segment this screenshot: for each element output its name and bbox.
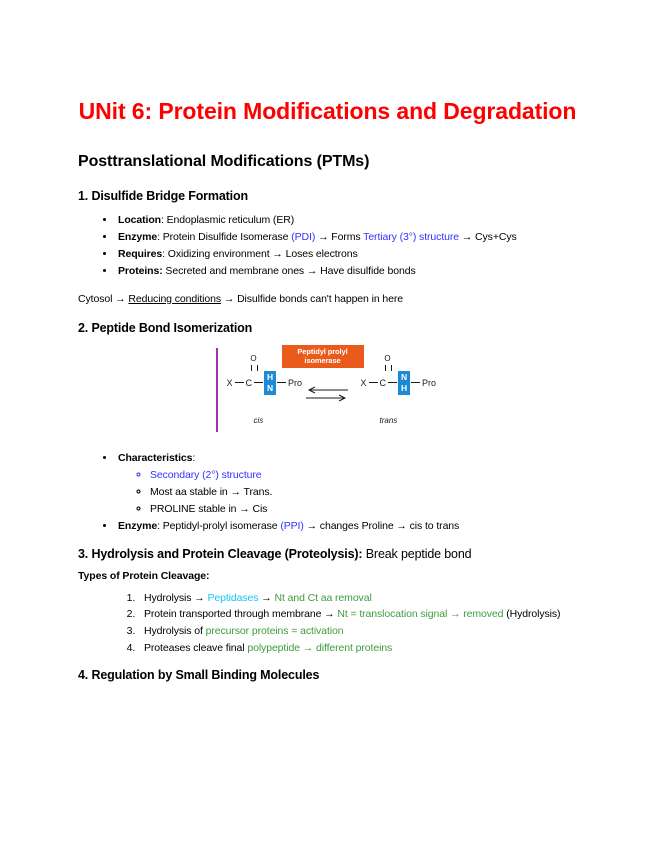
s2-bullet-1-run-0: : Peptidyl-prolyl isomerase bbox=[157, 520, 280, 532]
cytosol-note-before: Cytosol → bbox=[78, 293, 128, 305]
document-page: UNit 6: Protein Modifications and Degrad… bbox=[0, 0, 655, 848]
cis-atom-x: X bbox=[226, 378, 234, 388]
cis-atom-pro: Pro bbox=[287, 378, 303, 388]
section-heading-ptms: Posttranslational Modifications (PTMs) bbox=[78, 153, 577, 171]
list-item: Enzyme: Protein Disulfide Isomerase (PDI… bbox=[116, 229, 577, 246]
bullet-label: Requires bbox=[118, 248, 162, 260]
cis-bond-n-pro bbox=[277, 382, 286, 383]
list-item: Enzyme: Peptidyl-prolyl isomerase (PPI) … bbox=[116, 518, 577, 535]
trans-bond-n-pro bbox=[411, 382, 420, 383]
s2-bullet-1-run-1: (PPI) bbox=[280, 520, 303, 532]
heading-regulation-small-binding-molecules: 4. Regulation by Small Binding Molecules bbox=[78, 668, 577, 682]
cytosol-note-underlined: Reducing conditions bbox=[128, 293, 221, 305]
trans-atom-h: H bbox=[398, 383, 410, 394]
cis-molecule: O X C H N Pro bbox=[226, 374, 304, 392]
trans-label: trans bbox=[380, 416, 398, 425]
heading-hydrolysis-protein-cleavage: 3. Hydrolysis and Protein Cleavage (Prot… bbox=[78, 547, 577, 561]
s3-item-2-run-1: precursor proteins = activation bbox=[206, 625, 344, 637]
enzyme-badge-line2: isomerase bbox=[304, 356, 340, 365]
cis-label: cis bbox=[254, 416, 264, 425]
numbered-list-item: Hydrolysis of precursor proteins = activ… bbox=[138, 623, 577, 640]
trans-atom-pro: Pro bbox=[421, 378, 437, 388]
s2-bullet-0-run-0: : bbox=[192, 452, 195, 464]
trans-atom-c: C bbox=[379, 378, 388, 388]
page-title: UNit 6: Protein Modifications and Degrad… bbox=[78, 96, 577, 127]
enzyme-badge: Peptidyl prolyl isomerase bbox=[282, 345, 364, 368]
s3-item-3-run-1: polypeptide → different proteins bbox=[247, 642, 392, 654]
s3-item-0-run-3: Nt and Ct aa removal bbox=[274, 592, 371, 604]
s3-item-2-run-0: Hydrolysis of bbox=[144, 625, 206, 637]
list-item: Characteristics:Secondary (2°) structure… bbox=[116, 450, 577, 518]
sublist-item: Secondary (2°) structure bbox=[150, 467, 577, 484]
bullet-label: Characteristics bbox=[118, 452, 192, 464]
s3-item-0-run-1: Peptidases bbox=[207, 592, 258, 604]
s3-item-0-run-2: → bbox=[258, 592, 274, 604]
bullet-label: Proteins: bbox=[118, 265, 163, 277]
heading-hydrolysis-normal: Break peptide bond bbox=[362, 547, 471, 561]
s3-item-3-run-0: Proteases cleave final bbox=[144, 642, 247, 654]
bullet-1-run-4: → Cys+Cys bbox=[459, 231, 517, 243]
cis-atom-h: H bbox=[264, 372, 276, 383]
bullet-3-run-0: Secreted and membrane ones → Have disulf… bbox=[163, 265, 416, 277]
sublist-characteristics: Secondary (2°) structureMost aa stable i… bbox=[118, 467, 577, 518]
s2-bullet-1-run-2: → changes Proline → cis to trans bbox=[304, 520, 459, 532]
list-item: Requires: Oxidizing environment → Loses … bbox=[116, 246, 577, 263]
cis-atom-c: C bbox=[245, 378, 254, 388]
sublist-item: Most aa stable in → Trans. bbox=[150, 484, 577, 501]
cis-bond-c-n bbox=[254, 382, 263, 383]
cytosol-note: Cytosol → Reducing conditions → Disulfid… bbox=[78, 292, 577, 307]
trans-carbonyl-oxygen: O bbox=[383, 355, 393, 363]
cis-atom-n: N bbox=[264, 383, 276, 394]
figure-left-rule bbox=[216, 348, 218, 432]
figure-wrapper: Peptidyl prolyl isomerase O X C H N bbox=[78, 344, 577, 436]
trans-bond-c-n bbox=[388, 382, 397, 383]
heading-hydrolysis-bold: 3. Hydrolysis and Protein Cleavage (Prot… bbox=[78, 547, 362, 561]
bullet-2-run-0: : Oxidizing environment → Loses electron… bbox=[162, 248, 358, 260]
cytosol-note-after: → Disulfide bonds can't happen in here bbox=[221, 293, 403, 305]
bullet-1-run-2: → Forms bbox=[315, 231, 363, 243]
trans-atom-n: N bbox=[398, 372, 410, 383]
numbered-list-item: Hydrolysis → Peptidases → Nt and Ct aa r… bbox=[138, 590, 577, 607]
bullet-label: Enzyme bbox=[118, 520, 157, 532]
bullet-1-run-0: : Protein Disulfide Isomerase bbox=[157, 231, 291, 243]
trans-atom-x: X bbox=[360, 378, 368, 388]
numbered-list-item: Proteases cleave final polypeptide → dif… bbox=[138, 640, 577, 657]
list-item: Location: Endoplasmic reticulum (ER) bbox=[116, 212, 577, 229]
numbered-list-item: Protein transported through membrane → N… bbox=[138, 606, 577, 623]
heading-peptide-bond-isomerization: 2. Peptide Bond Isomerization bbox=[78, 321, 577, 335]
list-disulfide-bullets: Location: Endoplasmic reticulum (ER)Enzy… bbox=[78, 212, 577, 280]
enzyme-badge-line1: Peptidyl prolyl bbox=[297, 347, 347, 356]
trans-double-bond bbox=[385, 365, 392, 371]
list-item: Proteins: Secreted and membrane ones → H… bbox=[116, 263, 577, 280]
cis-double-bond bbox=[251, 365, 258, 371]
s3-item-1-run-1: Nt = translocation signal → removed bbox=[337, 608, 503, 620]
cis-bond-x-c bbox=[235, 382, 244, 383]
cis-trans-isomerization-figure: Peptidyl prolyl isomerase O X C H N bbox=[212, 344, 444, 436]
bullet-label: Location bbox=[118, 214, 161, 226]
subheading-types-of-protein-cleavage: Types of Protein Cleavage: bbox=[78, 570, 577, 582]
trans-nitrogen-highlight: N H bbox=[398, 371, 410, 395]
s3-item-0-run-0: Hydrolysis → bbox=[144, 592, 207, 604]
list-cleavage-types: Hydrolysis → Peptidases → Nt and Ct aa r… bbox=[78, 590, 577, 656]
bullet-1-run-1: (PDI) bbox=[291, 231, 315, 243]
bullet-label: Enzyme bbox=[118, 231, 157, 243]
cis-carbonyl-oxygen: O bbox=[249, 355, 259, 363]
equilibrium-arrows-icon bbox=[304, 386, 350, 402]
list-isomerization-bullets: Characteristics:Secondary (2°) structure… bbox=[78, 450, 577, 535]
trans-bond-x-c bbox=[369, 382, 378, 383]
s3-item-1-run-0: Protein transported through membrane → bbox=[144, 608, 337, 620]
cis-nitrogen-highlight: H N bbox=[264, 371, 276, 395]
trans-molecule: O X C N H Pro bbox=[360, 374, 438, 392]
sublist-item: PROLINE stable in → Cis bbox=[150, 501, 577, 518]
heading-disulfide-bridge-formation: 1. Disulfide Bridge Formation bbox=[78, 189, 577, 203]
bullet-0-run-0: : Endoplasmic reticulum (ER) bbox=[161, 214, 294, 226]
s3-item-1-run-2: (Hydrolysis) bbox=[503, 608, 560, 620]
bullet-1-run-3: Tertiary (3°) structure bbox=[363, 231, 459, 243]
